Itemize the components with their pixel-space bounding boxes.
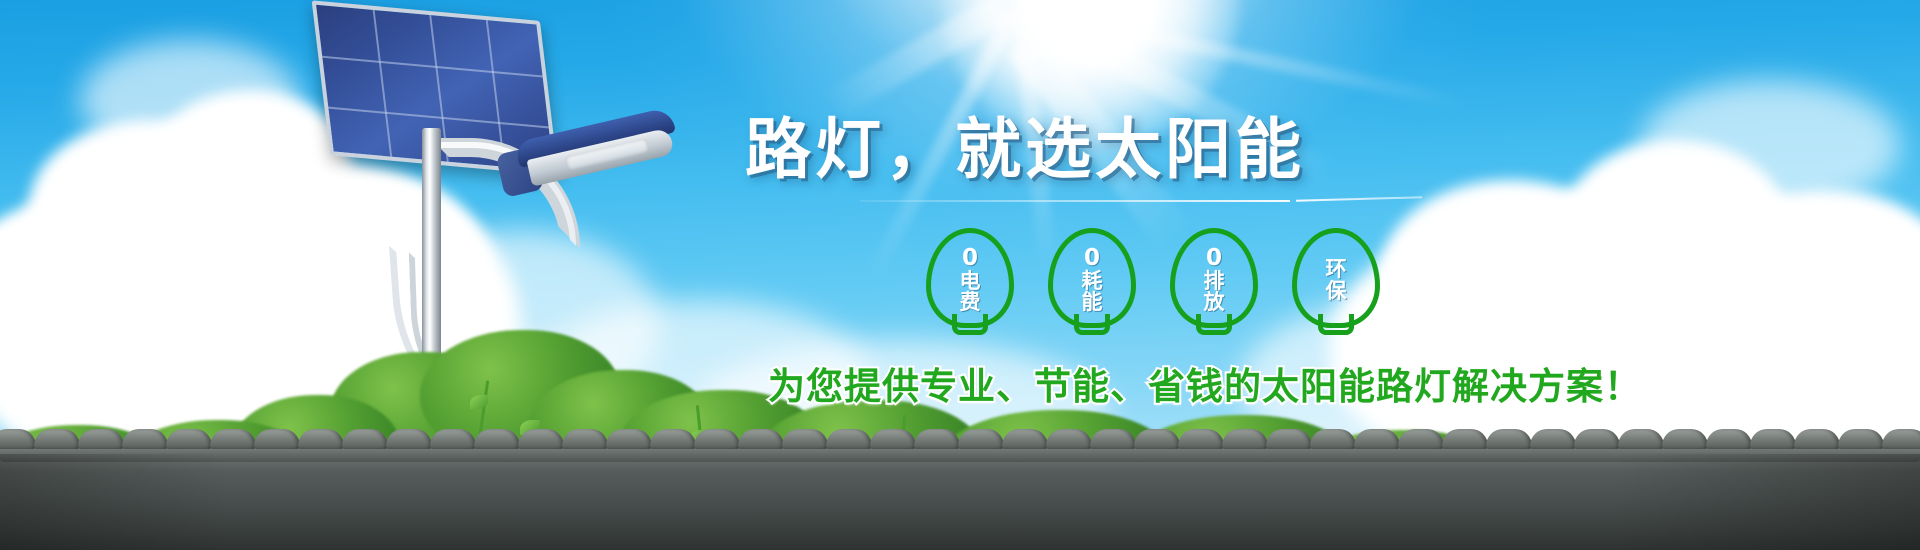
divider-line-main bbox=[860, 200, 1290, 202]
badge-label: 电 费 bbox=[960, 271, 981, 314]
badge-label: 耗 能 bbox=[1082, 271, 1103, 314]
divider-line-accent bbox=[1296, 196, 1422, 202]
badge-label-line1: 排 bbox=[1204, 271, 1225, 292]
badge-label-line1: 环 bbox=[1326, 259, 1347, 280]
badge-label-line1: 耗 bbox=[1082, 271, 1103, 292]
badge-label-line2: 放 bbox=[1204, 292, 1225, 313]
divider bbox=[860, 198, 1420, 204]
badge-label: 环 保 bbox=[1326, 259, 1347, 302]
page-subtitle: 为您提供专业、节能、省钱的太阳能路灯解决方案！ bbox=[768, 356, 1642, 410]
page-title: 路灯，就选太阳能 bbox=[745, 96, 1305, 192]
badge-label-line2: 费 bbox=[960, 292, 981, 313]
badge-zero-value: 0 bbox=[962, 247, 978, 270]
badge-zero-value: 0 bbox=[1084, 247, 1100, 270]
badge-label-line2: 保 bbox=[1326, 281, 1347, 302]
solar-streetlight-hero-banner: 路灯，就选太阳能 0 电 费 0 耗 能 bbox=[0, 0, 1920, 550]
feature-badge-0-emissions: 0 排 放 bbox=[1164, 228, 1264, 332]
feature-badge-list: 0 电 费 0 耗 能 0 排 放 bbox=[920, 228, 1440, 338]
badge-label-line1: 电 bbox=[960, 271, 981, 292]
banner-copy: 路灯，就选太阳能 0 电 费 0 耗 能 bbox=[0, 0, 1920, 550]
feature-badge-eco-friendly: 环 保 bbox=[1286, 228, 1386, 332]
feature-badge-0-electricity-cost: 0 电 费 bbox=[920, 228, 1020, 332]
feature-badge-0-energy-use: 0 耗 能 bbox=[1042, 228, 1142, 332]
badge-label: 排 放 bbox=[1204, 271, 1225, 314]
badge-label-line2: 能 bbox=[1082, 292, 1103, 313]
badge-zero-value: 0 bbox=[1206, 247, 1222, 270]
